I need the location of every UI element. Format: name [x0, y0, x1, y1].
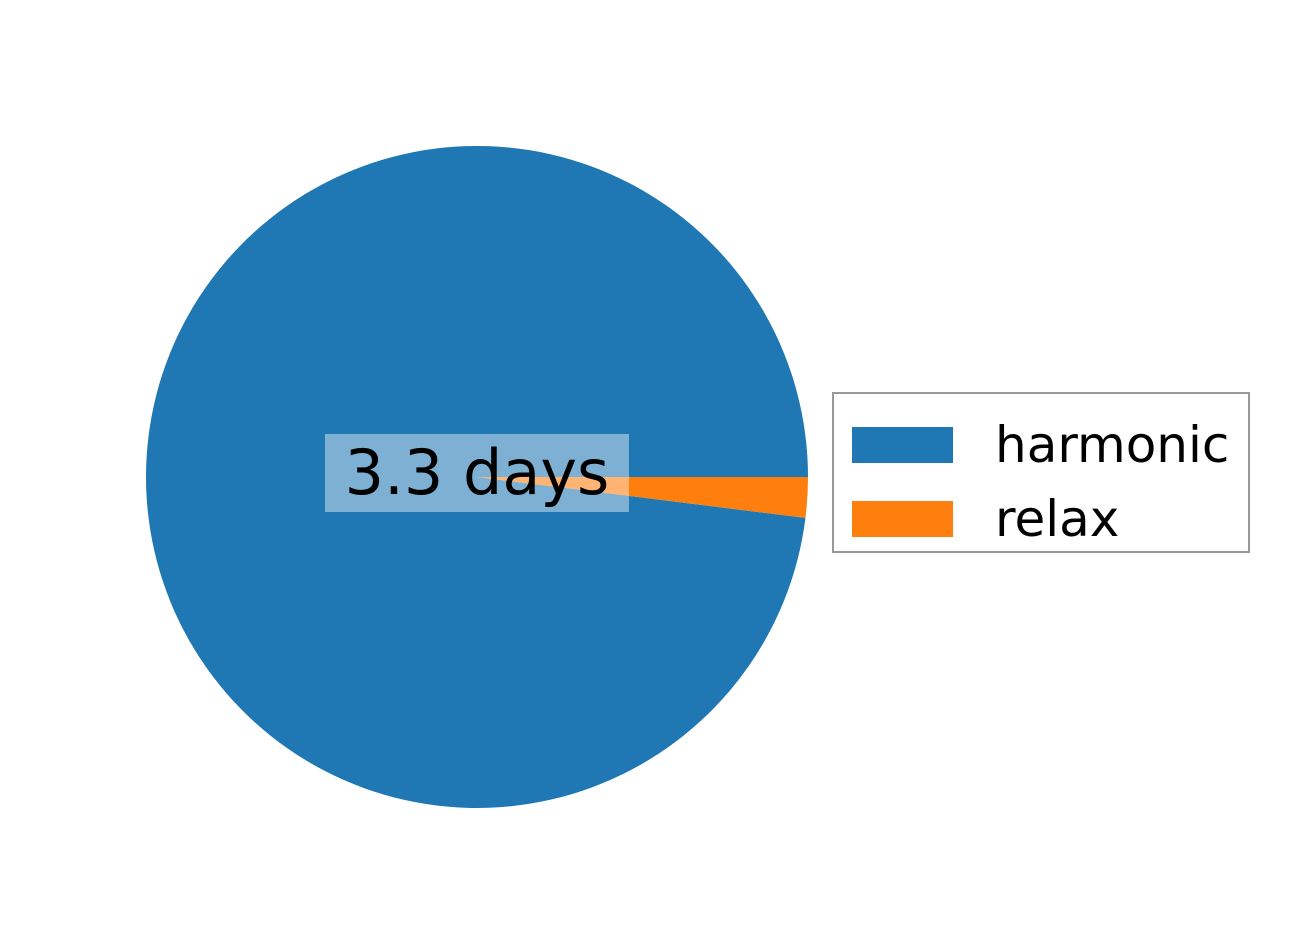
legend-swatch-harmonic	[852, 427, 953, 463]
legend-item-harmonic[interactable]: harmonic	[834, 408, 1248, 482]
pie-wedge-label-harmonic: 3.3 days	[325, 434, 629, 512]
pie-chart-figure: 3.3 days harmonic relax	[0, 0, 1307, 951]
legend-label-relax: relax	[995, 494, 1119, 544]
legend-label-harmonic: harmonic	[995, 420, 1229, 470]
legend: harmonic relax	[832, 392, 1250, 553]
legend-swatch-relax	[852, 501, 953, 537]
legend-item-relax[interactable]: relax	[834, 482, 1248, 556]
pie-wedge-label-text: 3.3 days	[345, 442, 610, 504]
